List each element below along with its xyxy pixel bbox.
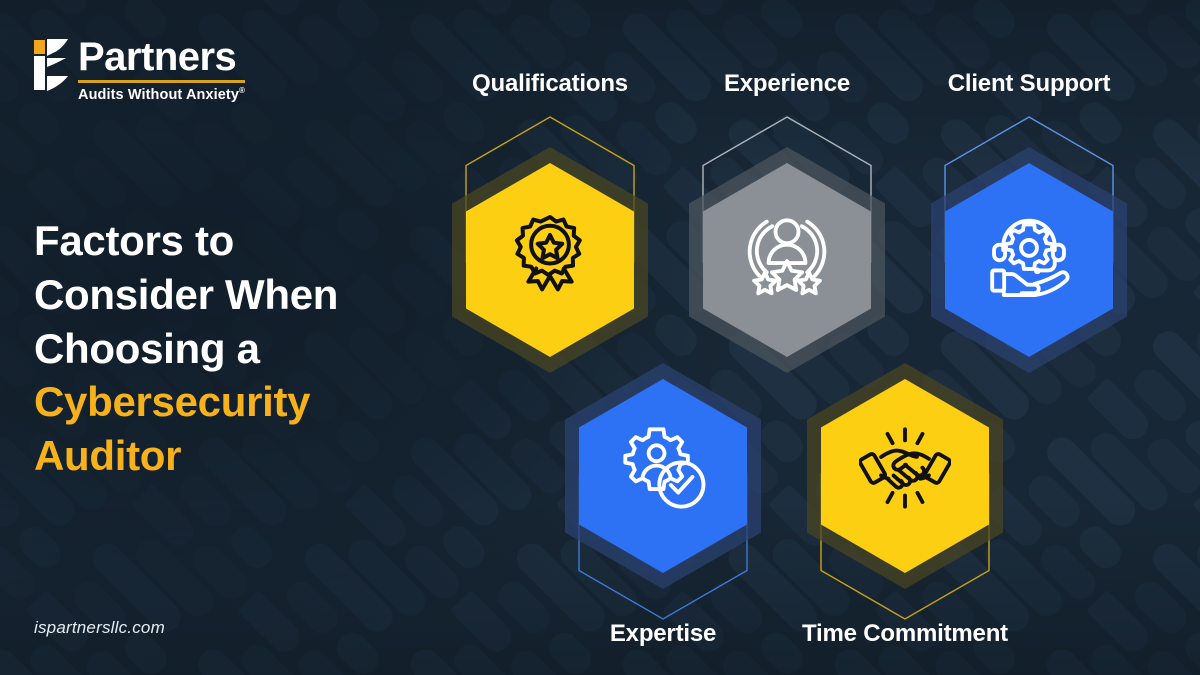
hand-headset-gear-icon — [914, 128, 1144, 376]
factor-label: Time Commitment — [730, 620, 1080, 648]
factor-hex-experience[interactable]: Experience — [672, 128, 902, 376]
factor-hex-expertise[interactable]: Expertise — [548, 344, 778, 592]
factor-hex-time-commitment[interactable]: Time Commitment — [790, 344, 1020, 592]
gear-person-check-icon — [548, 344, 778, 592]
award-badge-star-icon — [435, 128, 665, 376]
factor-hex-client-support[interactable]: Client Support — [914, 128, 1144, 376]
factors-hex-cluster: Qualifications Experience Client Support — [0, 0, 1200, 675]
person-three-stars-icon — [672, 128, 902, 376]
factor-label: Client Support — [854, 70, 1200, 98]
handshake-icon — [790, 344, 1020, 592]
factor-hex-qualifications[interactable]: Qualifications — [435, 128, 665, 376]
